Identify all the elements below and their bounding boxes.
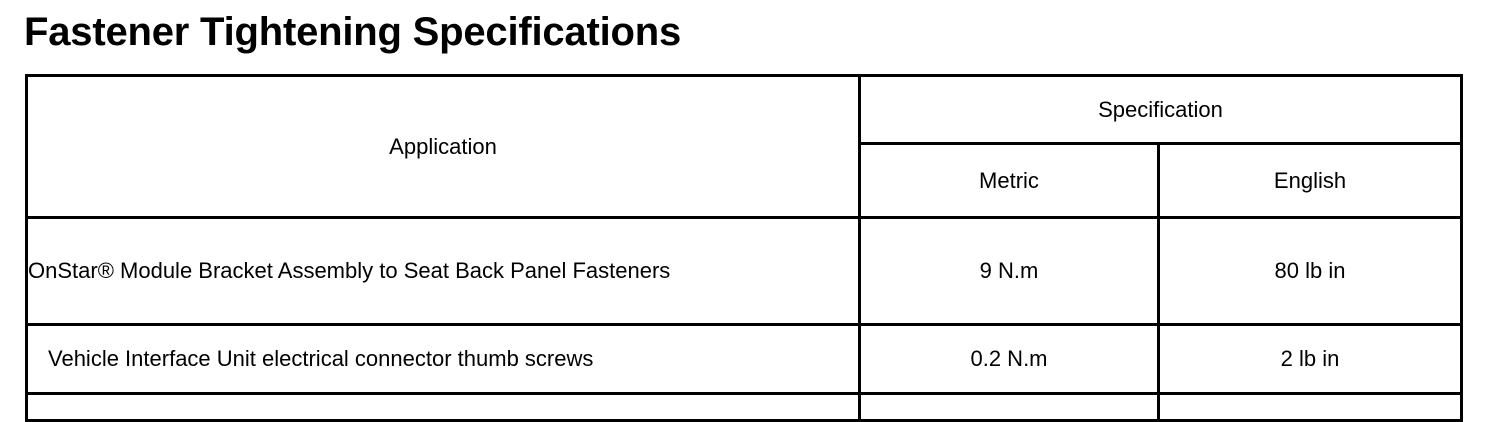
table-row bbox=[27, 394, 1462, 421]
cell-english: 2 lb in bbox=[1159, 325, 1462, 394]
table-row: Vehicle Interface Unit electrical connec… bbox=[27, 325, 1462, 394]
cell-application bbox=[27, 394, 860, 421]
cell-metric bbox=[860, 394, 1159, 421]
cell-metric: 0.2 N.m bbox=[860, 325, 1159, 394]
table-body: OnStar® Module Bracket Assembly to Seat … bbox=[27, 218, 1462, 421]
cell-english: 80 lb in bbox=[1159, 218, 1462, 325]
cell-application: Vehicle Interface Unit electrical connec… bbox=[27, 325, 860, 394]
column-header-english: English bbox=[1159, 144, 1462, 218]
column-header-application: Application bbox=[27, 76, 860, 218]
table-header: Application Specification Metric English bbox=[27, 76, 1462, 218]
column-header-specification: Specification bbox=[860, 76, 1462, 144]
document-page: Fastener Tightening Specifications Appli… bbox=[0, 0, 1504, 422]
cell-application: OnStar® Module Bracket Assembly to Seat … bbox=[27, 218, 860, 325]
cell-metric: 9 N.m bbox=[860, 218, 1159, 325]
table-row: OnStar® Module Bracket Assembly to Seat … bbox=[27, 218, 1462, 325]
fastener-spec-table: Application Specification Metric English… bbox=[25, 74, 1463, 422]
page-title: Fastener Tightening Specifications bbox=[24, 7, 681, 57]
fastener-spec-table-container: Application Specification Metric English… bbox=[25, 74, 1460, 422]
cell-english bbox=[1159, 394, 1462, 421]
table-header-row-group: Application Specification bbox=[27, 76, 1462, 144]
column-header-metric: Metric bbox=[860, 144, 1159, 218]
